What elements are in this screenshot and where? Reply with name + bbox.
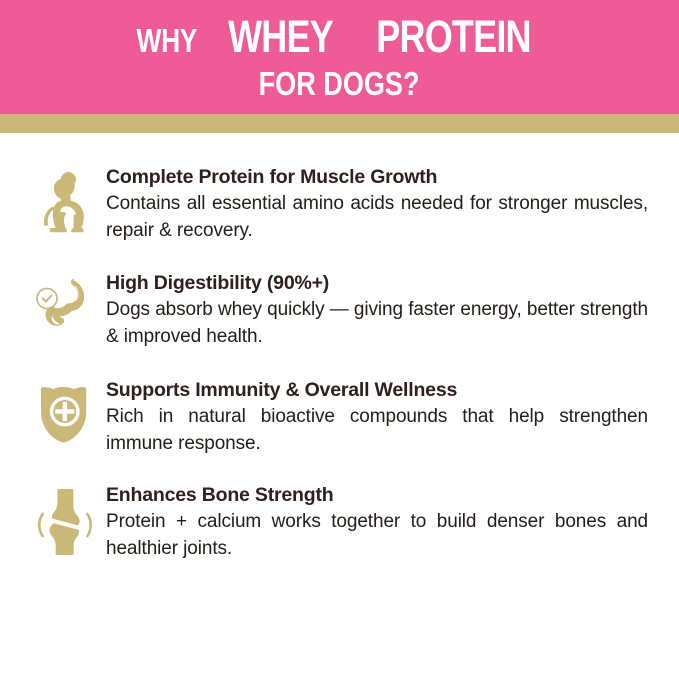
stomach-check-icon xyxy=(33,276,97,340)
benefit-item-complete-protein: Complete Protein for Muscle Growth Conta… xyxy=(24,164,648,245)
dog-sitting-icon xyxy=(33,170,97,236)
benefit-text: High Digestibility (90%+) Dogs absorb wh… xyxy=(106,270,648,351)
page-subtitle: FOR DOGS? xyxy=(259,65,420,103)
icon-slot xyxy=(24,270,106,340)
title-word-protein: PROTEIN xyxy=(377,11,531,63)
page-title-line-1: WHY WHEY PROTEIN xyxy=(129,11,551,63)
benefit-item-supports-immunity: Supports Immunity & Overall Wellness Ric… xyxy=(24,377,648,458)
icon-slot xyxy=(24,482,106,556)
benefit-body: Dogs absorb whey quickly — giving faster… xyxy=(106,297,648,351)
benefit-text: Enhances Bone Strength Protein + calcium… xyxy=(106,482,648,563)
benefit-text: Complete Protein for Muscle Growth Conta… xyxy=(106,164,648,245)
benefit-heading: Supports Immunity & Overall Wellness xyxy=(106,377,648,403)
header-banner: WHY WHEY PROTEIN FOR DOGS? xyxy=(0,0,679,114)
benefit-heading: Enhances Bone Strength xyxy=(106,482,648,508)
benefits-list: Complete Protein for Muscle Growth Conta… xyxy=(0,133,679,679)
benefit-item-high-digestibility: High Digestibility (90%+) Dogs absorb wh… xyxy=(24,270,648,351)
gold-divider-bar xyxy=(0,114,679,133)
benefit-heading: Complete Protein for Muscle Growth xyxy=(106,164,648,190)
benefit-body: Contains all essential amino acids neede… xyxy=(106,191,648,245)
benefit-text: Supports Immunity & Overall Wellness Ric… xyxy=(106,377,648,458)
benefit-heading: High Digestibility (90%+) xyxy=(106,270,648,296)
title-word-why: WHY xyxy=(136,22,196,60)
icon-slot xyxy=(24,164,106,236)
icon-slot xyxy=(24,377,106,449)
bone-joint-icon xyxy=(34,488,96,556)
benefit-body: Rich in natural bioactive compounds that… xyxy=(106,404,648,458)
benefit-body: Protein + calcium works together to buil… xyxy=(106,509,648,563)
shield-plus-icon xyxy=(36,383,94,449)
title-word-whey: WHEY xyxy=(228,11,333,63)
benefit-item-bone-strength: Enhances Bone Strength Protein + calcium… xyxy=(24,482,648,563)
infographic-page: WHY WHEY PROTEIN FOR DOGS? xyxy=(0,0,679,679)
